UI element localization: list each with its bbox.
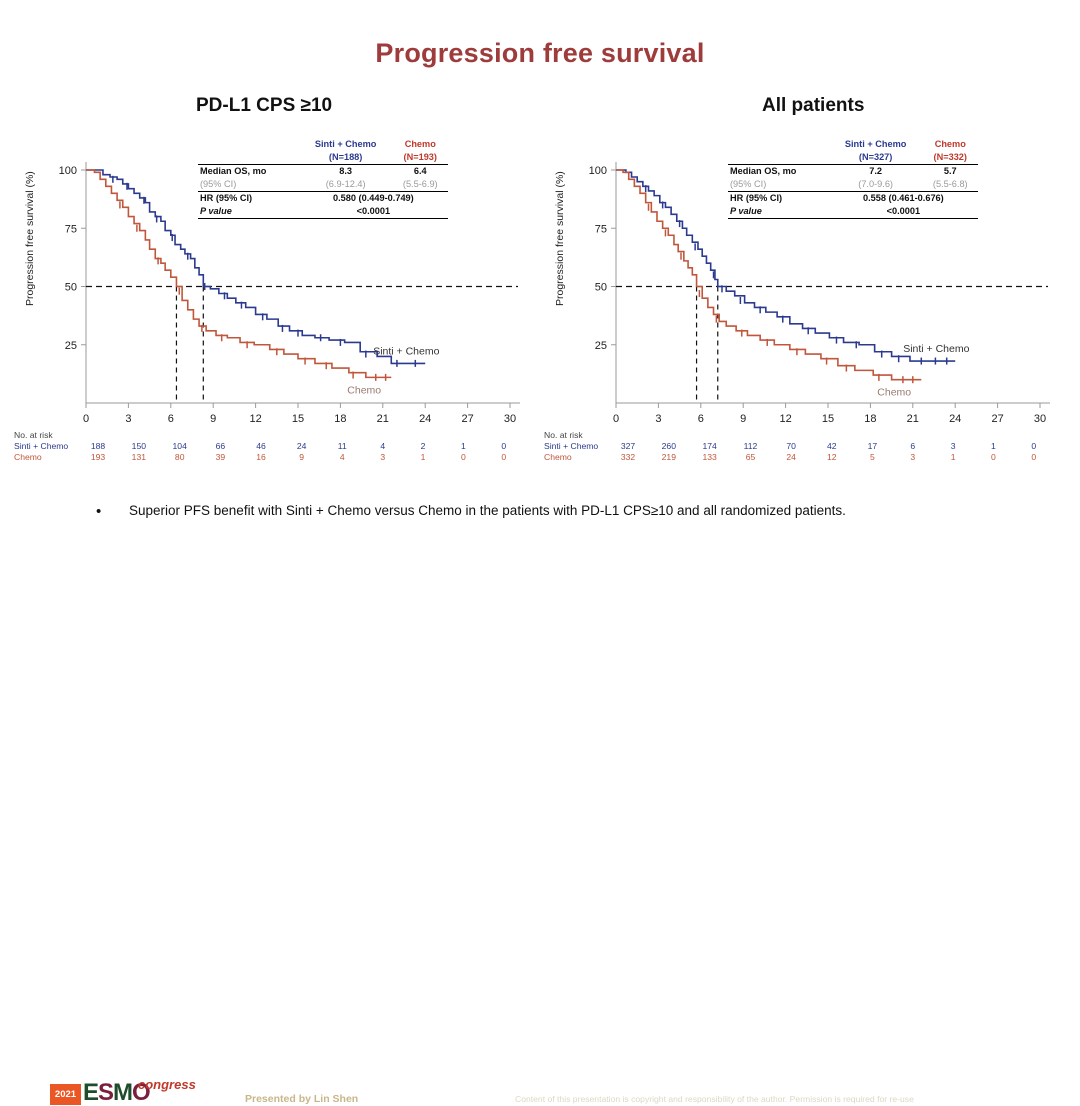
risk-grid-right: Sinti + Chemo3272601741127042176310Chemo… [544, 441, 1054, 463]
risk-row-sinti-chemo: Sinti + Chemo188150104664624114210 [14, 441, 524, 452]
copyright-notice: Content of this presentation is copyrigh… [515, 1094, 914, 1104]
stats-hr-value-left: 0.580 (0.449-0.749) [299, 192, 448, 206]
x-tick-label: 6 [168, 413, 174, 425]
risk-cell: 65 [730, 452, 771, 463]
y-tick-label: 100 [59, 165, 77, 177]
risk-cell: 4 [363, 441, 403, 452]
risk-cell: 80 [159, 452, 200, 463]
stats-p-label-right: P value [728, 205, 829, 219]
risk-title-right: No. at risk [544, 430, 1054, 440]
stats-ci-red-right: (5.5-6.8) [923, 178, 978, 192]
risk-table-left: No. at risk Sinti + Chemo188150104664624… [14, 430, 524, 463]
y-tick-label: 25 [595, 340, 607, 352]
x-tick-label: 0 [613, 413, 619, 425]
stats-col-blue-n-right: (N=327) [829, 151, 923, 165]
risk-cell: 188 [78, 441, 119, 452]
stats-table-left: Sinti + Chemo Chemo (N=188) (N=193) Medi… [198, 138, 448, 219]
risk-row-chemo: Chemo193131803916943100 [14, 452, 524, 463]
stats-ci-label-left: (95% CI) [198, 178, 299, 192]
risk-cell: 131 [118, 452, 159, 463]
risk-cell: 112 [730, 441, 771, 452]
risk-table-right: No. at risk Sinti + Chemo327260174112704… [544, 430, 1054, 463]
x-tick-label: 12 [779, 413, 791, 425]
risk-cell: 219 [648, 452, 689, 463]
risk-cell: 1 [403, 452, 443, 463]
risk-cell: 66 [200, 441, 241, 452]
risk-cell: 3 [933, 441, 973, 452]
risk-cell: 332 [608, 452, 649, 463]
risk-cell: 1 [973, 441, 1013, 452]
risk-cell: 0 [973, 452, 1013, 463]
risk-cell: 3 [363, 452, 403, 463]
esmo-letter-s: S [98, 1079, 113, 1106]
stats-median-blue-right: 7.2 [829, 165, 923, 179]
x-tick-label: 18 [864, 413, 876, 425]
slide-footer: 2021 ESMO congress Presented by Lin Shen… [0, 536, 1080, 594]
bullet-text: Superior PFS benefit with Sinti + Chemo … [129, 503, 846, 518]
stats-hr-label-left: HR (95% CI) [198, 192, 299, 206]
x-tick-label: 30 [504, 413, 516, 425]
stats-table-right: Sinti + Chemo Chemo (N=327) (N=332) Medi… [728, 138, 978, 219]
x-tick-label: 9 [210, 413, 216, 425]
x-tick-label: 0 [83, 413, 89, 425]
x-tick-label: 15 [292, 413, 304, 425]
panel-header-left: PD-L1 CPS ≥10 [196, 95, 332, 117]
risk-row-sinti-chemo: Sinti + Chemo3272601741127042176310 [544, 441, 1054, 452]
risk-cell: 1 [443, 441, 483, 452]
bullet-marker-icon: • [96, 504, 101, 519]
risk-cell: 327 [608, 441, 649, 452]
risk-cell: 0 [443, 452, 483, 463]
x-tick-label: 6 [698, 413, 704, 425]
stats-ci-blue-right: (7.0-9.6) [829, 178, 923, 192]
risk-cell: 133 [689, 452, 730, 463]
risk-grid-left: Sinti + Chemo188150104664624114210Chemo1… [14, 441, 524, 463]
risk-title-left: No. at risk [14, 430, 524, 440]
stats-median-blue-left: 8.3 [299, 165, 393, 179]
chart-panel-left: Progression free survival (%) 1007550250… [10, 130, 530, 480]
stats-col-red-left: Chemo [393, 138, 448, 151]
risk-cell: 2 [403, 441, 443, 452]
risk-cell: 174 [689, 441, 730, 452]
stats-ci-red-left: (5.5-6.9) [393, 178, 448, 192]
y-tick-label: 75 [65, 223, 77, 235]
y-tick-label: 100 [589, 165, 607, 177]
risk-cell: 17 [852, 441, 893, 452]
panel-header-right: All patients [762, 95, 864, 117]
risk-cell: 11 [322, 441, 363, 452]
legend-label-chemo: Chemo [877, 387, 911, 399]
stats-hr-value-right: 0.558 (0.461-0.676) [829, 192, 978, 206]
y-tick-label: 50 [595, 282, 607, 294]
legend-label-sinti-chemo: Sinti + Chemo [373, 345, 439, 357]
stats-col-red-n-right: (N=332) [923, 151, 978, 165]
x-tick-label: 21 [907, 413, 919, 425]
risk-cell: 0 [484, 452, 524, 463]
x-tick-label: 27 [461, 413, 473, 425]
stats-p-value-left: <0.0001 [299, 205, 448, 219]
risk-cell: 42 [811, 441, 852, 452]
risk-row-label: Sinti + Chemo [544, 441, 608, 452]
risk-cell: 0 [484, 441, 524, 452]
stats-col-blue-right: Sinti + Chemo [829, 138, 923, 151]
x-tick-label: 18 [334, 413, 346, 425]
risk-row-label: Chemo [544, 452, 608, 463]
risk-cell: 104 [159, 441, 200, 452]
x-tick-label: 30 [1034, 413, 1046, 425]
risk-cell: 3 [893, 452, 933, 463]
y-tick-label: 50 [65, 282, 77, 294]
esmo-letter-e: E [83, 1079, 98, 1106]
risk-cell: 70 [771, 441, 812, 452]
stats-hr-label-right: HR (95% CI) [728, 192, 829, 206]
risk-cell: 193 [78, 452, 119, 463]
x-tick-label: 12 [249, 413, 261, 425]
risk-cell: 0 [1014, 441, 1054, 452]
stats-p-label-left: P value [198, 205, 299, 219]
risk-cell: 1 [933, 452, 973, 463]
risk-cell: 5 [852, 452, 893, 463]
esmo-logo-year: 2021 [50, 1084, 81, 1105]
stats-median-red-right: 5.7 [923, 165, 978, 179]
risk-cell: 46 [241, 441, 282, 452]
risk-cell: 6 [893, 441, 933, 452]
stats-col-red-n-left: (N=193) [393, 151, 448, 165]
risk-row-label: Sinti + Chemo [14, 441, 78, 452]
stats-col-red-right: Chemo [923, 138, 978, 151]
risk-row-label: Chemo [14, 452, 78, 463]
x-tick-label: 21 [377, 413, 389, 425]
risk-cell: 16 [241, 452, 282, 463]
x-tick-label: 3 [125, 413, 131, 425]
stats-median-label-left: Median OS, mo [198, 165, 299, 179]
x-tick-label: 15 [822, 413, 834, 425]
risk-cell: 39 [200, 452, 241, 463]
y-tick-label: 25 [65, 340, 77, 352]
risk-cell: 9 [281, 452, 322, 463]
stats-ci-blue-left: (6.9-12.4) [299, 178, 393, 192]
x-tick-label: 3 [655, 413, 661, 425]
x-tick-label: 9 [740, 413, 746, 425]
risk-cell: 12 [811, 452, 852, 463]
risk-cell: 24 [771, 452, 812, 463]
y-tick-label: 75 [595, 223, 607, 235]
stats-ci-label-right: (95% CI) [728, 178, 829, 192]
x-tick-label: 24 [419, 413, 431, 425]
risk-cell: 150 [118, 441, 159, 452]
presented-by: Presented by Lin Shen [245, 1093, 358, 1105]
legend-label-sinti-chemo: Sinti + Chemo [903, 343, 969, 355]
stats-median-label-right: Median OS, mo [728, 165, 829, 179]
esmo-letter-m: M [113, 1079, 132, 1106]
risk-cell: 0 [1014, 452, 1054, 463]
stats-col-blue-left: Sinti + Chemo [299, 138, 393, 151]
page-title: Progression free survival [0, 38, 1080, 69]
chart-panel-right: Progression free survival (%) 1007550250… [540, 130, 1060, 480]
risk-cell: 24 [281, 441, 322, 452]
legend-label-chemo: Chemo [347, 384, 381, 396]
x-tick-label: 24 [949, 413, 961, 425]
stats-p-value-right: <0.0001 [829, 205, 978, 219]
stats-median-red-left: 6.4 [393, 165, 448, 179]
stats-col-blue-n-left: (N=188) [299, 151, 393, 165]
esmo-logo-congress: congress [138, 1077, 196, 1092]
risk-cell: 260 [648, 441, 689, 452]
x-tick-label: 27 [991, 413, 1003, 425]
slide-root: Progression free survival PD-L1 CPS ≥10 … [0, 0, 1080, 594]
risk-cell: 4 [322, 452, 363, 463]
risk-row-chemo: Chemo33221913365241253100 [544, 452, 1054, 463]
